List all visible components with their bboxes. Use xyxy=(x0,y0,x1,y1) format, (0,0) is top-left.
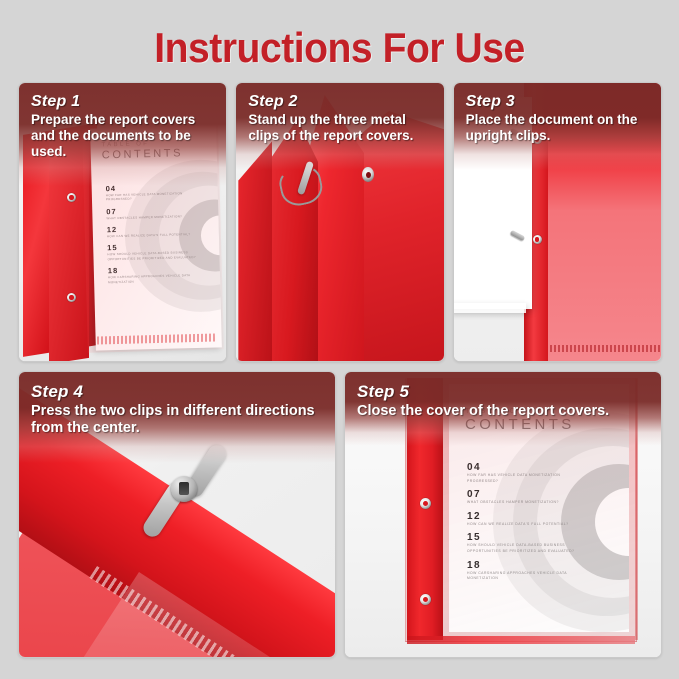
step-2-text: Stand up the three metal clips of the re… xyxy=(248,112,431,144)
cover-bottom-edge xyxy=(407,636,635,644)
cover-eyelet-top xyxy=(67,193,76,202)
step-4-text: Press the two clips in different directi… xyxy=(31,403,323,437)
step-card-2[interactable]: Step 2 Stand up the three metal clips of… xyxy=(235,82,444,362)
cover-eyelet-bottom xyxy=(420,594,431,605)
steps-grid: TABLE OF CONTENTS 04 HOW FAR HAS VEHICLE… xyxy=(18,82,662,667)
step-3-number: Step 3 xyxy=(466,93,649,111)
step-card-5[interactable]: TABLE OF CONTENTS 04 HOW FAR HAS VEHICLE… xyxy=(344,371,662,658)
page-title: Instructions For Use xyxy=(24,24,655,72)
steps-row-bottom: Step 4 Press the two clips in different … xyxy=(18,371,662,658)
perforation-strip xyxy=(550,345,660,352)
cover-eyelet-top xyxy=(420,498,431,509)
step-1-label: Step 1 Prepare the report covers and the… xyxy=(19,83,226,186)
step-card-3[interactable]: Step 3 Place the document on the upright… xyxy=(453,82,662,362)
document-stack-edge xyxy=(454,303,526,313)
step-4-label: Step 4 Press the two clips in different … xyxy=(19,372,335,463)
step-2-label: Step 2 Stand up the three metal clips of… xyxy=(236,83,443,170)
step-3-label: Step 3 Place the document on the upright… xyxy=(454,83,661,170)
cover-eyelet-bottom xyxy=(67,293,76,302)
step-card-1[interactable]: TABLE OF CONTENTS 04 HOW FAR HAS VEHICLE… xyxy=(18,82,227,362)
clip-knob-slot xyxy=(179,482,189,495)
cover-eyelet-bottom xyxy=(533,235,542,244)
steps-row-top: TABLE OF CONTENTS 04 HOW FAR HAS VEHICLE… xyxy=(18,82,662,362)
step-1-text: Prepare the report covers and the docume… xyxy=(31,112,214,160)
step-5-number: Step 5 xyxy=(357,382,649,402)
step-5-label: Step 5 Close the cover of the report cov… xyxy=(345,372,661,446)
step-2-number: Step 2 xyxy=(248,93,431,111)
step-4-number: Step 4 xyxy=(31,382,323,402)
step-5-text: Close the cover of the report covers. xyxy=(357,403,649,420)
step-card-4[interactable]: Step 4 Press the two clips in different … xyxy=(18,371,336,658)
step-1-number: Step 1 xyxy=(31,93,214,111)
step-3-text: Place the document on the upright clips. xyxy=(466,112,649,144)
